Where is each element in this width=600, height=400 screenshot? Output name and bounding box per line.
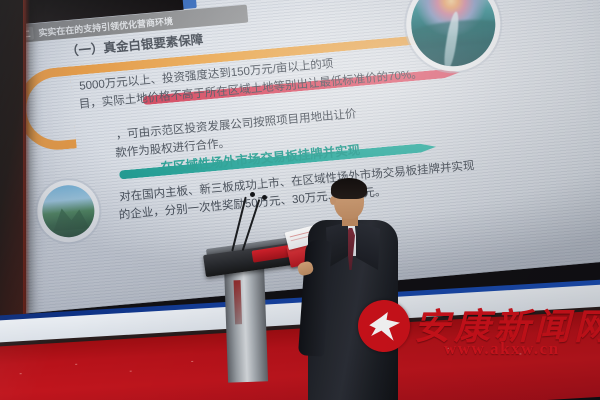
mountain-peak-shape (51, 203, 89, 231)
left-dark-pillar (0, 0, 26, 318)
bird-icon (368, 312, 400, 342)
watermark-badge-circle (358, 300, 410, 352)
podium-column (224, 261, 268, 382)
watermark: 安康新闻网 www.akxw.cn (358, 296, 594, 368)
slide-photo-valley (408, 0, 499, 70)
speaker-hair (331, 178, 367, 199)
microphone-head-1 (250, 192, 255, 197)
photograph-scene: 抓好窗口，展台窗头 二 实实在在的支持引领优化营商环境 （一）真金白银要素保障 … (0, 0, 600, 400)
slide-photo-mountain (40, 183, 96, 239)
microphone-head-2 (262, 195, 267, 200)
watermark-url: www.akxw.cn (444, 339, 560, 359)
slide-red-text-line1: ，可由示范区投资发展公司按照项目用地出让价 (115, 105, 357, 142)
